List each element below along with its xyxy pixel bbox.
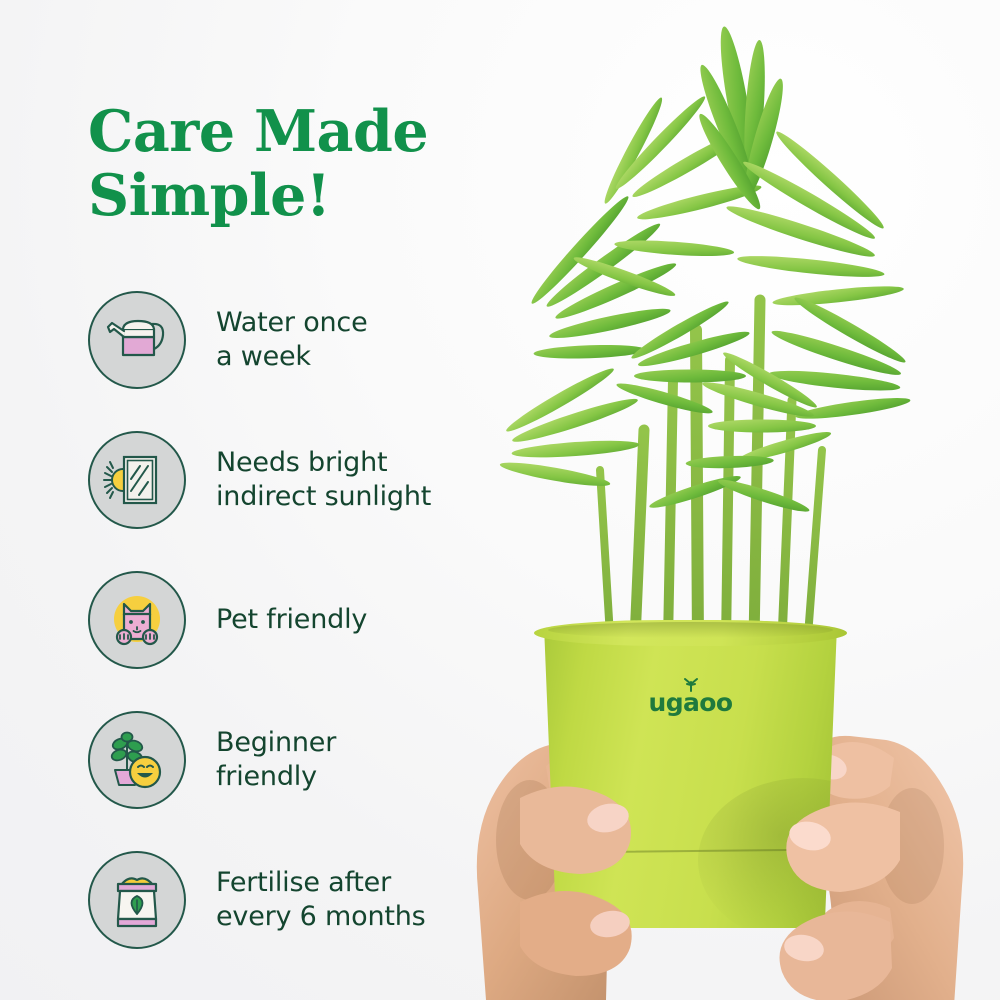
feature-item-water: Water once a week [88,288,488,392]
feature-label: Pet friendly [216,603,367,637]
feature-label: Fertilise after every 6 months [216,866,426,934]
potted-plant-smiley-icon [88,711,186,809]
feature-item-sunlight: Needs bright indirect sunlight [88,428,488,532]
fertiliser-bag-icon [88,851,186,949]
feature-label: Needs bright indirect sunlight [216,446,431,514]
feature-item-pet: Pet friendly [88,568,488,672]
plant-pot-group: ugaoo [430,600,1000,1000]
parlor-palm-plant-image [430,0,1000,660]
feature-label: Water once a week [216,306,367,374]
pot-rim-shadow [548,622,833,638]
care-guide-graphic: Care Made Simple! Water once a week [0,0,1000,1000]
feature-item-fertilise: Fertilise after every 6 months [88,848,488,952]
feature-item-beginner: Beginner friendly [88,708,488,812]
product-photo: ugaoo [430,0,1000,1000]
cat-face-icon [88,571,186,669]
brand-logo: ugaoo [538,676,843,717]
watering-can-icon [88,291,186,389]
right-hand-front-fingers [680,792,900,1000]
brand-logo-text: ugaoo [649,688,733,717]
feature-label: Beginner friendly [216,726,336,794]
sun-window-icon [88,431,186,529]
care-feature-list: Water once a week [88,288,488,952]
